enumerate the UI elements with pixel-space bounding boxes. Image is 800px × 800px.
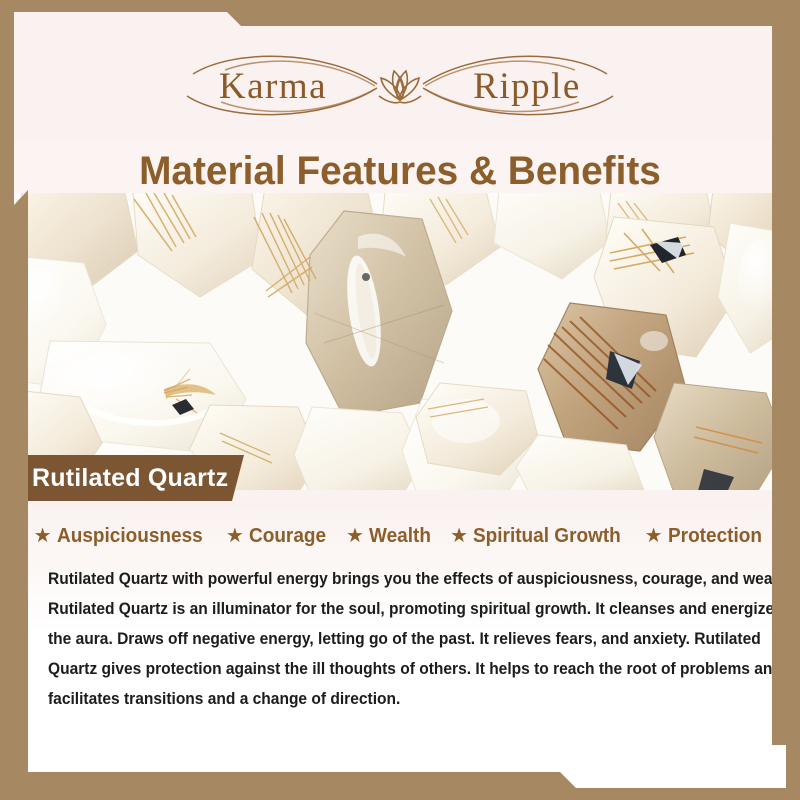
description-line: Quartz gives protection against the ill …: [48, 654, 724, 684]
benefit-item: ★ Wealth: [338, 525, 442, 548]
brand-name-right: Ripple: [473, 66, 581, 107]
benefit-label: Spiritual Growth: [473, 525, 621, 548]
benefit-label: Courage: [249, 525, 326, 548]
material-name-label: Rutilated Quartz: [32, 464, 228, 493]
benefit-label: Wealth: [369, 525, 431, 548]
frame-band-left: [0, 190, 28, 800]
benefits-list: ★ Auspiciousness ★ Courage ★ Wealth ★ Sp…: [34, 525, 766, 548]
description-paragraph: Rutilated Quartz with powerful energy br…: [34, 564, 766, 714]
benefit-item: ★ Auspiciousness: [26, 525, 218, 548]
material-name-banner: Rutilated Quartz: [14, 455, 244, 501]
brand-logo: Karma Ripple: [14, 42, 786, 132]
page-title: Material Features & Benefits: [139, 149, 661, 194]
star-icon: ★: [450, 526, 468, 546]
lotus-flower-icon: [379, 71, 421, 103]
benefit-label: Auspiciousness: [57, 525, 203, 548]
description-line: Rutilated Quartz with powerful energy br…: [48, 564, 724, 594]
benefit-item: ★ Spiritual Growth: [442, 525, 637, 548]
benefit-label: Protection: [668, 525, 762, 548]
content-section: ★ Auspiciousness ★ Courage ★ Wealth ★ Sp…: [14, 501, 786, 788]
quartz-stones-illustration: [14, 193, 786, 490]
description-line: facilitates transitions and a change of …: [48, 684, 724, 714]
hero-photo: [14, 193, 786, 490]
star-icon: ★: [346, 526, 364, 546]
benefit-item: ★ Protection: [637, 525, 775, 548]
poster-root: Karma Ripple Material Features & Benefit…: [0, 0, 800, 800]
star-icon: ★: [645, 526, 663, 546]
brand-logo-svg: Karma Ripple: [165, 44, 635, 130]
page-card: Karma Ripple Material Features & Benefit…: [14, 12, 786, 788]
description-line: Rutilated Quartz is an illuminator for t…: [48, 594, 724, 624]
brand-name-left: Karma: [219, 66, 327, 107]
benefit-item: ★ Courage: [218, 525, 338, 548]
star-icon: ★: [34, 526, 52, 546]
description-line: the aura. Draws off negative energy, let…: [48, 624, 724, 654]
frame-band-right: [772, 0, 800, 745]
star-icon: ★: [226, 526, 244, 546]
